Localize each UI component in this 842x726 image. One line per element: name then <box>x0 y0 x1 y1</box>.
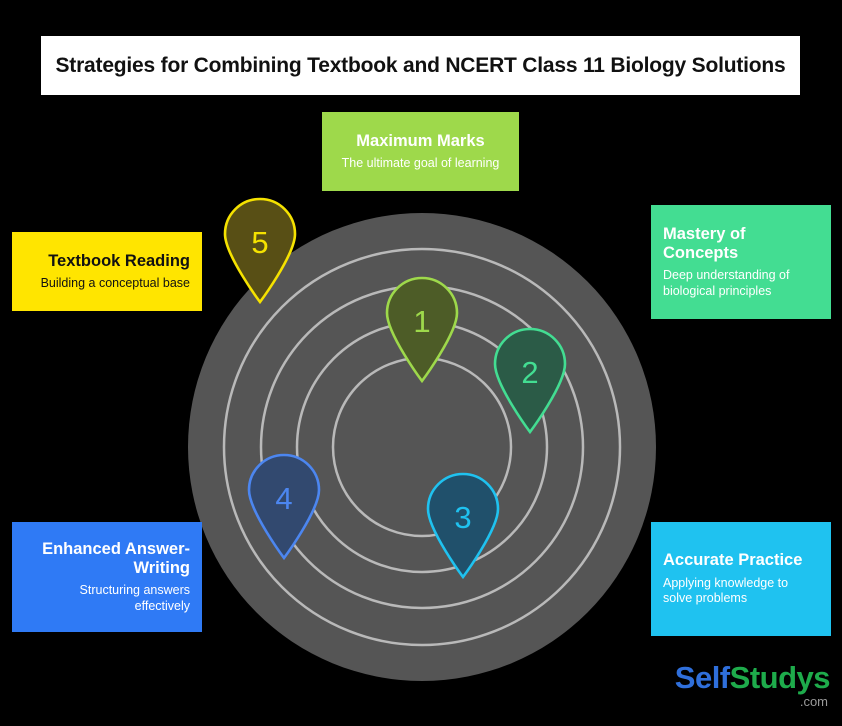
callout-enhanced-answer-writing[interactable]: Enhanced Answer-Writing Structuring answ… <box>12 522 202 632</box>
callout-accurate-practice-title: Accurate Practice <box>663 551 802 570</box>
callout-mastery-of-concepts-title: Mastery of Concepts <box>663 225 819 263</box>
pin-number-4: 4 <box>275 481 292 516</box>
callout-textbook-reading-title: Textbook Reading <box>48 252 190 271</box>
infographic-canvas: Strategies for Combining Textbook and NC… <box>0 0 842 726</box>
map-pin-marker-1[interactable]: 1 <box>381 272 463 384</box>
pin-number-5: 5 <box>251 225 268 260</box>
page-title: Strategies for Combining Textbook and NC… <box>55 54 785 78</box>
callout-enhanced-answer-writing-title: Enhanced Answer-Writing <box>24 540 190 578</box>
pin-number-3: 3 <box>454 500 471 535</box>
map-pin-marker-3[interactable]: 3 <box>422 468 504 580</box>
logo-text-studys: Studys <box>730 660 830 695</box>
logo-text-com: .com <box>675 695 828 708</box>
callout-textbook-reading[interactable]: Textbook Reading Building a conceptual b… <box>12 232 202 311</box>
callout-maximum-marks[interactable]: Maximum Marks The ultimate goal of learn… <box>322 112 519 191</box>
selfstudys-logo[interactable]: SelfStudys .com <box>675 662 830 708</box>
callout-maximum-marks-subtitle: The ultimate goal of learning <box>342 156 500 172</box>
callout-enhanced-answer-writing-subtitle: Structuring answers effectively <box>24 583 190 614</box>
pin-number-1: 1 <box>413 304 430 339</box>
logo-text-self: Self <box>675 660 730 695</box>
map-pin-marker-2[interactable]: 2 <box>489 323 571 435</box>
callout-textbook-reading-subtitle: Building a conceptual base <box>41 276 190 292</box>
callout-mastery-of-concepts[interactable]: Mastery of Concepts Deep understanding o… <box>651 205 831 319</box>
callout-accurate-practice[interactable]: Accurate Practice Applying knowledge to … <box>651 522 831 636</box>
map-pin-marker-4[interactable]: 4 <box>243 449 325 561</box>
title-banner: Strategies for Combining Textbook and NC… <box>41 36 800 95</box>
callout-maximum-marks-title: Maximum Marks <box>356 132 484 151</box>
callout-accurate-practice-subtitle: Applying knowledge to solve problems <box>663 576 819 607</box>
callout-mastery-of-concepts-subtitle: Deep understanding of biological princip… <box>663 268 819 299</box>
pin-number-2: 2 <box>521 355 538 390</box>
map-pin-marker-5[interactable]: 5 <box>219 193 301 305</box>
